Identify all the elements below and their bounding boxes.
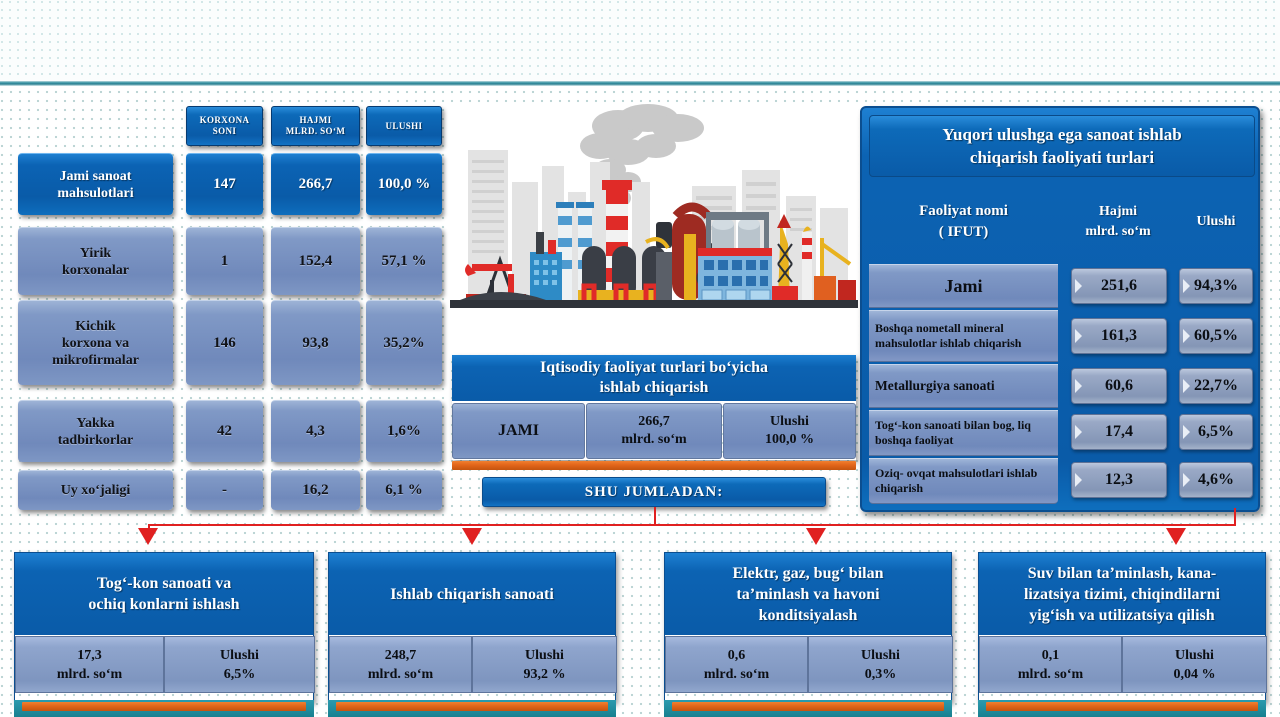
row-share-value: 57,1 % xyxy=(366,227,442,295)
row-label-line3: mikrofirmalar xyxy=(52,352,139,369)
connector-arrow-3 xyxy=(806,528,826,545)
right-panel-title-line1: Yuqori ulushga ega sanoat ishlab xyxy=(942,123,1181,146)
left-table-header-share: ULUSHI xyxy=(366,106,442,146)
mid-panel-total-value: 266,7 mlrd. so‘m xyxy=(586,403,722,459)
row-label-line2: korxonalar xyxy=(62,262,129,279)
row-label-line1: Uy xo‘jaligi xyxy=(61,482,131,499)
mid-panel-share-label: Ulushi xyxy=(765,413,814,431)
bottom-card-value-unit: mlrd. so‘m xyxy=(704,665,769,684)
left-table-header-volume-line2: MLRD. SO‘M xyxy=(286,126,346,137)
right-panel-title-line2: chiqarish faoliyati turlari xyxy=(942,146,1181,169)
row-volume-value: 17,4 xyxy=(1071,414,1167,450)
right-col-header-volume: Hajmi mlrd. so‘m xyxy=(1067,182,1169,262)
table-row: Metallurgiya sanoati xyxy=(869,364,1058,408)
bottom-card-value: 17,3 mlrd. so‘m xyxy=(15,636,164,693)
row-label-line2: mahsulotlari xyxy=(57,185,133,202)
row-volume-value: 251,6 xyxy=(1071,268,1167,304)
header-divider-rule xyxy=(0,81,1280,86)
bottom-card-energy: Elektr, gaz, bug‘ bilan ta’minlash va ha… xyxy=(664,552,952,702)
connector-stem-right-end xyxy=(1234,508,1236,525)
mid-panel-title-line1: Iqtisodiy faoliyat turlari bo‘yicha xyxy=(540,358,768,378)
bottom-card-share-label: Ulushi xyxy=(1174,646,1216,665)
row-share-value: 22,7% xyxy=(1179,368,1253,404)
table-row: Oziq- ovqat mahsulotlari ishlab chiqaris… xyxy=(869,458,1058,504)
bottom-card-value-unit: mlrd. so‘m xyxy=(368,665,433,684)
bottom-card-title: Tog‘-kon sanoati va ochiq konlarni ishla… xyxy=(15,553,313,635)
right-panel: Yuqori ulushga ega sanoat ishlab chiqari… xyxy=(860,106,1260,512)
bottom-card-value-number: 0,1 xyxy=(1018,646,1083,665)
row-share-value: 6,5% xyxy=(1179,414,1253,450)
bottom-card-share: Ulushi 0,3% xyxy=(808,636,953,693)
bottom-card-share: Ulushi 93,2 % xyxy=(472,636,617,693)
bottom-card-share: Ulushi 6,5% xyxy=(164,636,315,693)
row-share-value: 6,1 % xyxy=(366,470,442,510)
bottom-card-orange-bar xyxy=(336,702,608,711)
left-table-header-count: KORXONA SONI xyxy=(186,106,263,146)
row-count-value: - xyxy=(186,470,263,510)
bottom-card-share-value: 93,2 % xyxy=(524,665,566,684)
mid-panel-total-unit: mlrd. so‘m xyxy=(621,431,686,449)
row-share-value: 4,6% xyxy=(1179,462,1253,498)
bottom-card-title-line1: Tog‘-kon sanoati va xyxy=(88,573,239,594)
row-share-value: 60,5% xyxy=(1179,318,1253,354)
connector-arrow-2 xyxy=(462,528,482,545)
row-label-line1: Yirik xyxy=(80,245,111,262)
bottom-card-share-label: Ulushi xyxy=(861,646,900,665)
bottom-card-mining: Tog‘-kon sanoati va ochiq konlarni ishla… xyxy=(14,552,314,702)
bottom-card-title-line1: Suv bilan ta’minlash, kana- xyxy=(1024,563,1220,584)
row-volume-value: 266,7 xyxy=(271,153,360,215)
bottom-card-share-value: 0,04 % xyxy=(1174,665,1216,684)
mid-panel-orange-bar xyxy=(452,461,856,470)
shu-jumladan-banner: SHU JUMLADAN: xyxy=(482,477,826,507)
row-label-line2: korxona va xyxy=(62,335,129,352)
connector-stem-center xyxy=(654,507,656,525)
bottom-card-title-line3: yig‘ish va utilizatsiya qilish xyxy=(1024,605,1220,626)
bottom-card-share-value: 6,5% xyxy=(220,665,259,684)
row-volume-value: 16,2 xyxy=(271,470,360,510)
bottom-card-title: Ishlab chiqarish sanoati xyxy=(329,553,615,635)
bottom-card-share-label: Ulushi xyxy=(524,646,566,665)
right-col-header-volume-line2: mlrd. so‘m xyxy=(1085,222,1150,242)
mid-panel-total-number: 266,7 xyxy=(621,413,686,431)
row-label-line2: tadbirkorlar xyxy=(58,432,133,449)
bottom-card-value: 248,7 mlrd. so‘m xyxy=(329,636,472,693)
bottom-card-water: Suv bilan ta’minlash, kana- lizatsiya ti… xyxy=(978,552,1266,702)
row-share-value: 1,6% xyxy=(366,400,442,462)
bottom-card-orange-bar xyxy=(986,702,1258,711)
bottom-card-title: Suv bilan ta’minlash, kana- lizatsiya ti… xyxy=(979,553,1265,635)
left-table-header-count-line2: SONI xyxy=(213,126,237,137)
page-header xyxy=(0,0,1280,84)
mid-panel-title: Iqtisodiy faoliyat turlari bo‘yicha ishl… xyxy=(452,355,856,401)
table-row: Tog‘-kon sanoati bilan bog, liq boshqa f… xyxy=(869,410,1058,456)
row-label-line1: Yakka xyxy=(76,415,114,432)
bottom-card-title: Elektr, gaz, bug‘ bilan ta’minlash va ha… xyxy=(665,553,951,635)
left-table-header-share-line1: ULUSHI xyxy=(386,121,423,132)
table-row: Yakka tadbirkorlar xyxy=(18,400,173,462)
table-row: Uy xo‘jaligi xyxy=(18,470,173,510)
row-count-value: 42 xyxy=(186,400,263,462)
bottom-card-value-unit: mlrd. so‘m xyxy=(1018,665,1083,684)
bottom-card-title-line2: ochiq konlarni ishlash xyxy=(88,594,239,615)
row-volume-value: 60,6 xyxy=(1071,368,1167,404)
row-count-value: 147 xyxy=(186,153,263,215)
mid-panel-share: Ulushi 100,0 % xyxy=(723,403,856,459)
mid-panel-title-line2: ishlab chiqarish xyxy=(540,378,768,398)
table-row: Jami sanoat mahsulotlari xyxy=(18,153,173,215)
bottom-card-share-value: 0,3% xyxy=(861,665,900,684)
bottom-card-title-line2: ta’minlash va havoni xyxy=(733,584,884,605)
mid-panel-share-value: 100,0 % xyxy=(765,431,814,449)
table-row: Yirik korxonalar xyxy=(18,227,173,295)
row-volume-value: 12,3 xyxy=(1071,462,1167,498)
right-col-header-name: Faoliyat nomi ( IFUT) xyxy=(869,182,1058,262)
table-row: Jami xyxy=(869,264,1058,308)
table-row: Boshqa nometall mineral mahsulotlar ishl… xyxy=(869,310,1058,362)
row-count-value: 1 xyxy=(186,227,263,295)
left-table-header-volume-line1: HAJMI xyxy=(300,115,332,126)
row-volume-value: 161,3 xyxy=(1071,318,1167,354)
bottom-card-value-number: 17,3 xyxy=(57,646,122,665)
row-volume-value: 152,4 xyxy=(271,227,360,295)
mid-panel: Iqtisodiy faoliyat turlari bo‘yicha ishl… xyxy=(452,355,856,460)
mid-panel-jami-label: JAMI xyxy=(452,403,585,459)
connector-horizontal-line xyxy=(148,524,1236,526)
bottom-card-value: 0,6 mlrd. so‘m xyxy=(665,636,808,693)
row-label-line1: Jami sanoat xyxy=(60,168,132,185)
bottom-card-title-line3: konditsiyalash xyxy=(733,605,884,626)
connector-arrow-4 xyxy=(1166,528,1186,545)
row-volume-value: 4,3 xyxy=(271,400,360,462)
bottom-card-manufacturing: Ishlab chiqarish sanoati 248,7 mlrd. so‘… xyxy=(328,552,616,702)
right-col-header-share: Ulushi xyxy=(1177,182,1255,262)
left-table-header-volume: HAJMI MLRD. SO‘M xyxy=(271,106,360,146)
row-count-value: 146 xyxy=(186,300,263,385)
bottom-card-value-number: 0,6 xyxy=(704,646,769,665)
connector-arrow-1 xyxy=(138,528,158,545)
bottom-card-share: Ulushi 0,04 % xyxy=(1122,636,1267,693)
bottom-card-value-unit: mlrd. so‘m xyxy=(57,665,122,684)
factory-illustration-icon xyxy=(450,104,858,354)
right-col-header-volume-line1: Hajmi xyxy=(1085,202,1150,222)
row-share-value: 94,3% xyxy=(1179,268,1253,304)
right-col-header-name-line2: ( IFUT) xyxy=(919,222,1008,243)
bottom-card-title-line2: lizatsiya tizimi, chiqindilarni xyxy=(1024,584,1220,605)
row-share-value: 100,0 % xyxy=(366,153,442,215)
row-volume-value: 93,8 xyxy=(271,300,360,385)
left-table-header-count-line1: KORXONA xyxy=(200,115,250,126)
row-share-value: 35,2% xyxy=(366,300,442,385)
right-col-header-name-line1: Faoliyat nomi xyxy=(919,201,1008,222)
row-label-line1: Kichik xyxy=(75,318,115,335)
table-row: Kichik korxona va mikrofirmalar xyxy=(18,300,173,385)
bottom-card-orange-bar xyxy=(672,702,944,711)
bottom-card-title-line1: Elektr, gaz, bug‘ bilan xyxy=(733,563,884,584)
right-panel-title: Yuqori ulushga ega sanoat ishlab chiqari… xyxy=(869,115,1255,177)
bottom-card-value-number: 248,7 xyxy=(368,646,433,665)
bottom-card-value: 0,1 mlrd. so‘m xyxy=(979,636,1122,693)
bottom-card-share-label: Ulushi xyxy=(220,646,259,665)
bottom-card-orange-bar xyxy=(22,702,306,711)
bottom-card-title-line1: Ishlab chiqarish sanoati xyxy=(390,584,554,605)
